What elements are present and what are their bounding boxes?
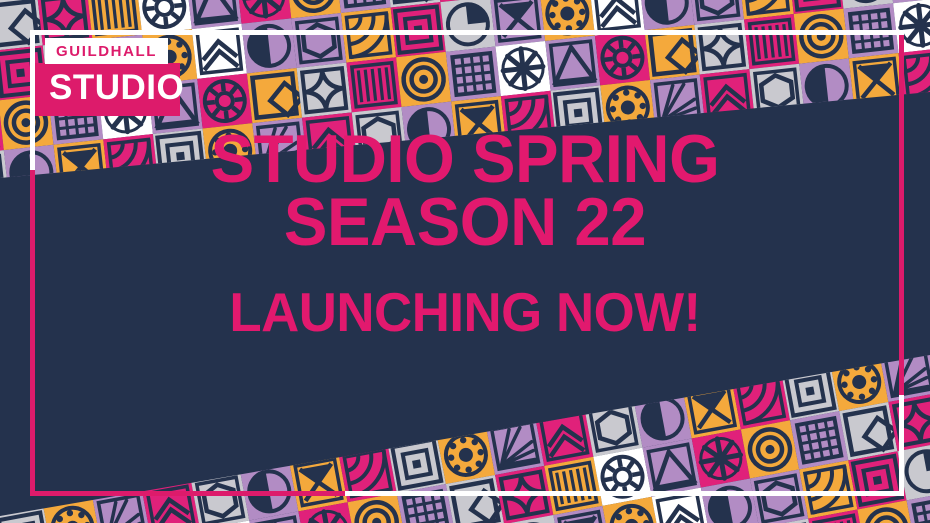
headline-block: STUDIO SPRING SEASON 22 LAUNCHING NOW! bbox=[0, 128, 930, 340]
headline-line-1: STUDIO SPRING bbox=[19, 128, 912, 191]
subheadline-launching-now: LAUNCHING NOW! bbox=[19, 253, 912, 340]
guildhall-studio-logo: GUILDHALL STUDIO bbox=[35, 38, 180, 116]
logo-studio-box: STUDIO bbox=[35, 63, 180, 116]
logo-guildhall-label: GUILDHALL bbox=[45, 38, 168, 64]
logo-studio-label: STUDIO bbox=[49, 70, 166, 105]
poster-canvas: GUILDHALL STUDIO STUDIO SPRING SEASON 22… bbox=[0, 0, 930, 523]
headline-line-2: SEASON 22 bbox=[19, 191, 912, 254]
